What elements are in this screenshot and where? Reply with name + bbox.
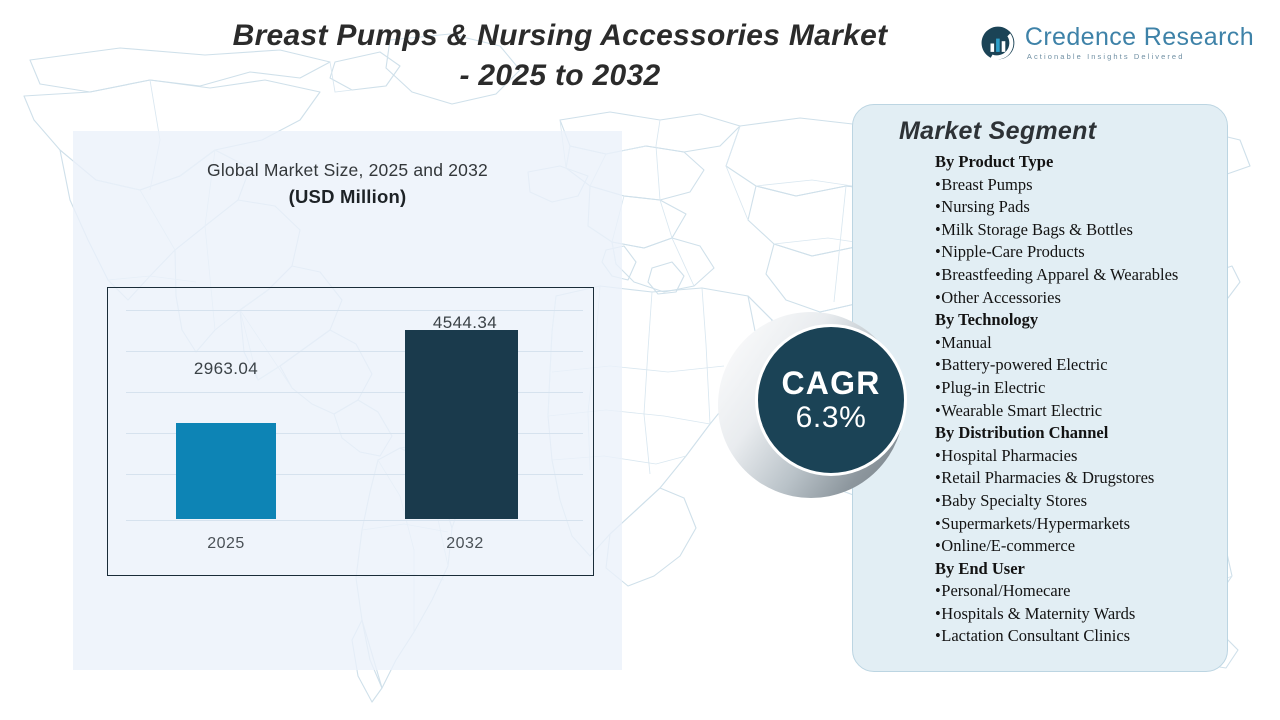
segment-item-label: Hospital Pharmacies [941,446,1077,465]
logo-tagline: Actionable Insights Delivered [1025,51,1254,62]
segment-item: •Hospital Pharmacies [935,445,1217,468]
segment-item-label: Online/E-commerce [941,536,1075,555]
segment-item: •Wearable Smart Electric [935,400,1217,423]
bar-2025 [176,423,276,519]
bar-category-label-2025: 2025 [156,535,296,553]
segment-item-label: Battery-powered Electric [941,355,1107,374]
cagr-value: 6.3% [796,401,867,435]
chart-caption: Global Market Size, 2025 and 2032 (USD M… [73,157,622,210]
segment-item-label: Retail Pharmacies & Drugstores [941,468,1154,487]
segment-item: •Milk Storage Bags & Bottles [935,219,1217,242]
market-segment-list: By Product Type •Breast Pumps •Nursing P… [935,151,1217,648]
gridline [126,310,583,311]
segment-group-distribution-channel: By Distribution Channel •Hospital Pharma… [935,422,1217,558]
cagr-label: CAGR [781,365,880,401]
segment-item: •Plug-in Electric [935,377,1217,400]
segment-item: •Hospitals & Maternity Wards [935,603,1217,626]
segment-item-label: Baby Specialty Stores [941,491,1087,510]
segment-group-end-user: By End User •Personal/Homecare •Hospital… [935,558,1217,648]
segment-item-label: Wearable Smart Electric [941,401,1102,420]
segment-item: •Battery-powered Electric [935,354,1217,377]
bar-chart-circle-icon [980,25,1016,61]
chart-plot-area: 2963.04 2025 4544.34 2032 [108,288,593,575]
market-segment-heading: Market Segment [899,117,1096,146]
gridline [126,520,583,521]
segment-group-title: By Technology [935,309,1217,332]
bar-category-label-2032: 2032 [390,535,540,553]
segment-item-label: Supermarkets/Hypermarkets [941,514,1130,533]
segment-group-title: By Product Type [935,151,1217,174]
bar-2032 [405,330,518,519]
chart-caption-main: Global Market Size, 2025 and 2032 [73,157,622,183]
bar-chart: 2963.04 2025 4544.34 2032 [107,287,594,576]
segment-item: •Breast Pumps [935,174,1217,197]
infographic-canvas: Breast Pumps & Nursing Accessories Marke… [0,0,1280,720]
segment-item-label: Plug-in Electric [941,378,1045,397]
segment-item: •Baby Specialty Stores [935,490,1217,513]
cagr-badge: CAGR 6.3% [755,324,907,476]
segment-item-label: Breastfeeding Apparel & Wearables [941,265,1178,284]
bar-value-label: 2963.04 [156,359,296,379]
logo-company-name: Credence Research [1025,24,1254,51]
segment-item: •Nursing Pads [935,196,1217,219]
segment-item: •Personal/Homecare [935,580,1217,603]
segment-item-label: Lactation Consultant Clinics [941,626,1130,645]
segment-group-title: By Distribution Channel [935,422,1217,445]
segment-item: •Other Accessories [935,287,1217,310]
segment-item: •Manual [935,332,1217,355]
chart-caption-units: (USD Million) [73,183,622,210]
segment-item-label: Breast Pumps [941,175,1032,194]
logo-text: Credence Research Actionable Insights De… [1025,24,1254,62]
segment-item: •Nipple-Care Products [935,241,1217,264]
segment-item-label: Milk Storage Bags & Bottles [941,220,1133,239]
segment-item-label: Other Accessories [941,288,1061,307]
segment-group-title: By End User [935,558,1217,581]
segment-item: •Retail Pharmacies & Drugstores [935,467,1217,490]
segment-group-technology: By Technology •Manual •Battery-powered E… [935,309,1217,422]
brand-logo[interactable]: Credence Research Actionable Insights De… [980,24,1254,62]
page-title: Breast Pumps & Nursing Accessories Marke… [120,16,1000,96]
segment-item-label: Hospitals & Maternity Wards [941,604,1135,623]
chart-panel: Global Market Size, 2025 and 2032 (USD M… [73,131,622,670]
segment-item-label: Nursing Pads [941,197,1029,216]
title-line-2: - 2025 to 2032 [120,56,1000,96]
segment-item-label: Personal/Homecare [941,581,1070,600]
segment-item-label: Manual [941,333,991,352]
segment-item: •Breastfeeding Apparel & Wearables [935,264,1217,287]
segment-item-label: Nipple-Care Products [941,242,1084,261]
segment-group-product-type: By Product Type •Breast Pumps •Nursing P… [935,151,1217,309]
segment-item: •Lactation Consultant Clinics [935,625,1217,648]
segment-item: •Supermarkets/Hypermarkets [935,513,1217,536]
market-segment-panel: Market Segment By Product Type •Breast P… [852,104,1228,672]
segment-item: •Online/E-commerce [935,535,1217,558]
title-line-1: Breast Pumps & Nursing Accessories Marke… [120,16,1000,56]
